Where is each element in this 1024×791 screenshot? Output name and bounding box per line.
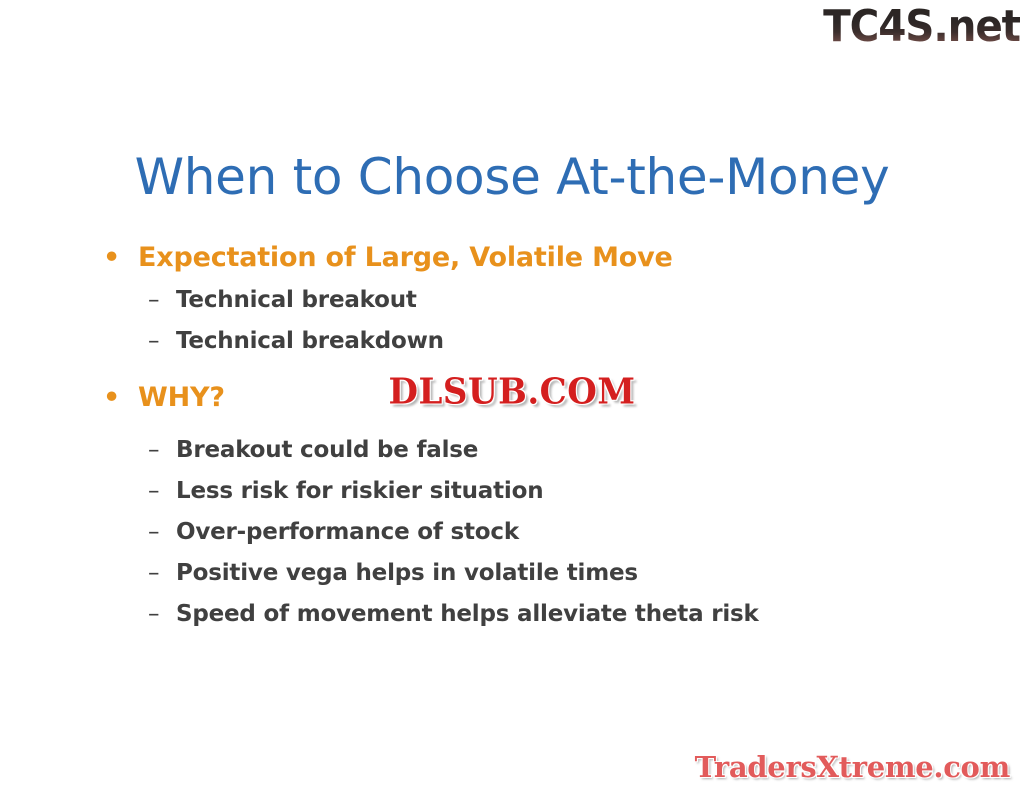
bullet-level2: – Technical breakout xyxy=(0,280,1024,321)
dash-icon: – xyxy=(148,321,159,362)
bullet-level1: • Expectation of Large, Volatile Move xyxy=(0,236,1024,280)
dash-icon: – xyxy=(148,471,159,512)
bullet-level2: – Over-performance of stock xyxy=(0,512,1024,553)
spacer xyxy=(0,420,1024,430)
bullet-level2-label: Breakout could be false xyxy=(176,437,478,463)
dash-icon: – xyxy=(148,280,159,321)
bullet-level2-label: Technical breakdown xyxy=(176,328,444,354)
tc4s-brand-logo: TC4S.net xyxy=(823,2,1020,52)
bullet-level2-label: Less risk for riskier situation xyxy=(176,478,543,504)
bullet-dot-icon: • xyxy=(103,376,120,420)
bullet-level2: – Less risk for riskier situation xyxy=(0,471,1024,512)
bullet-level2: – Positive vega helps in volatile times xyxy=(0,553,1024,594)
bottom-right-watermark: TradersXtreme.com xyxy=(695,749,1010,785)
bullet-level1: • WHY? xyxy=(0,376,1024,420)
bullet-level2: – Speed of movement helps alleviate thet… xyxy=(0,594,1024,635)
slide-body: • Expectation of Large, Volatile Move – … xyxy=(0,236,1024,635)
bullet-level2-label: Positive vega helps in volatile times xyxy=(176,560,638,586)
bullet-level2-label: Over-performance of stock xyxy=(176,519,519,545)
bullet-level2: – Breakout could be false xyxy=(0,430,1024,471)
bullet-level1-label: Expectation of Large, Volatile Move xyxy=(138,242,673,273)
dash-icon: – xyxy=(148,430,159,471)
dash-icon: – xyxy=(148,553,159,594)
bullet-level2: – Technical breakdown xyxy=(0,321,1024,362)
bullet-level2-label: Speed of movement helps alleviate theta … xyxy=(176,601,759,627)
dash-icon: – xyxy=(148,512,159,553)
dash-icon: – xyxy=(148,594,159,635)
bottom-right-watermark-label: TradersXtreme.com xyxy=(695,749,1010,785)
presentation-slide: TC4S.net When to Choose At-the-Money • E… xyxy=(0,0,1024,791)
bullet-level1-label: WHY? xyxy=(138,382,225,413)
slide-title: When to Choose At-the-Money xyxy=(62,146,962,208)
bullet-dot-icon: • xyxy=(103,236,120,280)
spacer xyxy=(0,362,1024,376)
bullet-level2-label: Technical breakout xyxy=(176,287,417,313)
